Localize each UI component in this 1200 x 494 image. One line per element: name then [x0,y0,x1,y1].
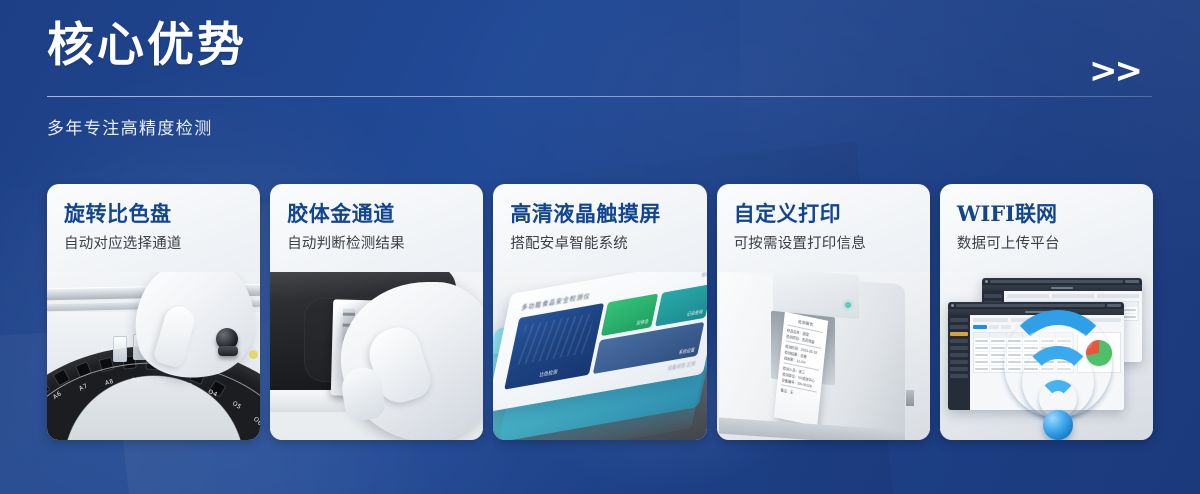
wifi-dot [1043,410,1073,440]
sidebar-item[interactable] [950,325,968,329]
receipt-line: 备注：无 [780,387,816,399]
sidebar-item[interactable] [950,360,968,364]
screen-tile-label: 系统设置 [679,347,696,356]
disc-tick-label: A7 [78,382,89,392]
window-titlebar [982,278,1142,285]
filter-field[interactable] [1007,294,1049,298]
disc-slot [75,361,92,378]
feature-card-rotating-color-disc[interactable]: 旋转比色盘 自动对应选择通道 A4 A5 [47,184,260,440]
header-divider [47,96,1152,97]
card-title: 自定义打印 [734,202,930,225]
card-subtitle: 可按需设置打印信息 [734,232,930,253]
filter-field[interactable] [1097,294,1139,298]
card-header: WIFI联网 数据可上传平台 [940,184,1153,253]
sidebar-item[interactable] [950,339,968,343]
screen-user-label: 管理员 [701,272,706,278]
screen-tile-secondary[interactable]: 记录查询 [655,284,706,327]
card-title: 旋转比色盘 [64,202,260,225]
disc-tick-label: O2 [157,378,167,386]
window-controls [1125,280,1139,283]
power-indicator-icon [845,302,851,308]
screen-tile-label: 比色检测 [539,369,558,378]
card-subtitle: 自动对应选择通道 [64,232,260,253]
sidebar-item[interactable] [950,346,968,350]
disc-tick-label: A8 [104,378,115,387]
feature-card-hd-lcd-touchscreen[interactable]: 高清液晶触摸屏 搭配安卓智能系统 多功能食品安全检测仪 管理员 比色检测 [493,184,706,440]
disc-tick-label: A6 [52,390,63,401]
tab-label [956,304,1105,307]
wifi-icon [998,324,1118,434]
disc-tick-label: O1 [131,377,141,385]
feature-card-colloidal-gold-channel[interactable]: 胶体金通道 自动判断检测结果 C T [270,184,483,440]
disc-slot [209,380,227,398]
filter-field[interactable] [973,318,1008,322]
primary-button[interactable] [973,325,987,329]
disc-tick-label: O6 [252,416,260,428]
disc-slot [53,369,71,387]
sidebar-item-active[interactable] [950,332,968,336]
page-subtitle: 多年专注高精度检测 [47,114,1152,139]
screen-tile-label: 记录查询 [687,309,704,318]
card-title: 高清液晶触摸屏 [510,202,706,225]
sidebar-item[interactable] [950,374,968,378]
tab-dot-icon [951,304,954,307]
card-subtitle: 搭配安卓智能系统 [510,232,706,253]
filter-field[interactable] [1052,294,1094,298]
filter-bar [1007,294,1139,298]
screen-tile-column: 胶体金 记录查询 系统设置 [593,284,706,374]
disc-tick-label: O3 [182,381,193,390]
toolbar-title [1051,287,1073,290]
sidebar-item[interactable] [950,367,968,371]
card-image-touchscreen: 多功能食品安全检测仪 管理员 比色检测 胶体金 [493,272,706,440]
banner-header: 核心优势 >> 多年专注高精度检测 [47,20,1152,139]
disc-slot [47,379,51,397]
screen-tile-label: 胶体金 [636,318,649,326]
screen-tile-secondary[interactable]: 胶体金 [601,293,658,336]
window-titlebar [948,302,1124,309]
disc-slot [99,357,115,373]
sidebar-item[interactable] [984,294,1002,298]
card-subtitle: 自动判断检测结果 [287,232,483,253]
window-controls [1107,304,1121,307]
card-image-rotating-disc: A4 A5 A6 A7 A8 O1 O2 O3 O4 O5 O6 O7 O8 [47,272,260,440]
screen-tile-primary[interactable]: 比色检测 [505,303,605,390]
disc-tick-label: O4 [207,388,219,398]
more-arrows-icon[interactable]: >> [1089,54,1140,88]
dashboard-sidebar [948,315,970,410]
card-subtitle: 数据可上传平台 [957,232,1153,253]
printer-leg [906,390,914,406]
sidebar-item[interactable] [950,353,968,357]
feature-card-wifi-network[interactable]: WIFI联网 数据可上传平台 [940,184,1153,440]
card-image-strip-insert: C T [270,272,483,440]
card-header: 高清液晶触摸屏 搭配安卓智能系统 [493,184,706,253]
card-header: 自定义打印 可按需设置打印信息 [717,184,930,253]
sidebar-item[interactable] [950,318,968,322]
feature-card-custom-print[interactable]: 自定义打印 可按需设置打印信息 检测报告 样品名称：蔬菜 检测项目：农药残留 检… [717,184,930,440]
page-title: 核心优势 [47,20,1152,73]
cuvette [113,336,127,362]
feature-card-list: 旋转比色盘 自动对应选择通道 A4 A5 [47,184,1153,440]
card-header: 旋转比色盘 自动对应选择通道 [47,184,260,253]
tab-label [990,280,1123,283]
card-title: WIFI联网 [957,202,1153,225]
banner-root: 核心优势 >> 多年专注高精度检测 旋转比色盘 自动对应选择通道 [0,0,1200,494]
instrument-knob-base [218,346,238,356]
disc-tick-label: O5 [231,400,243,411]
card-header: 胶体金通道 自动判断检测结果 [270,184,483,253]
cassette-test-line [343,313,355,316]
tab-dot-icon [985,280,988,283]
card-title: 胶体金通道 [287,202,483,225]
card-image-wifi-dashboard [940,272,1153,440]
card-image-printer: 检测报告 样品名称：蔬菜 检测项目：农药残留 检测时间：2023-05-18 检… [717,272,930,440]
